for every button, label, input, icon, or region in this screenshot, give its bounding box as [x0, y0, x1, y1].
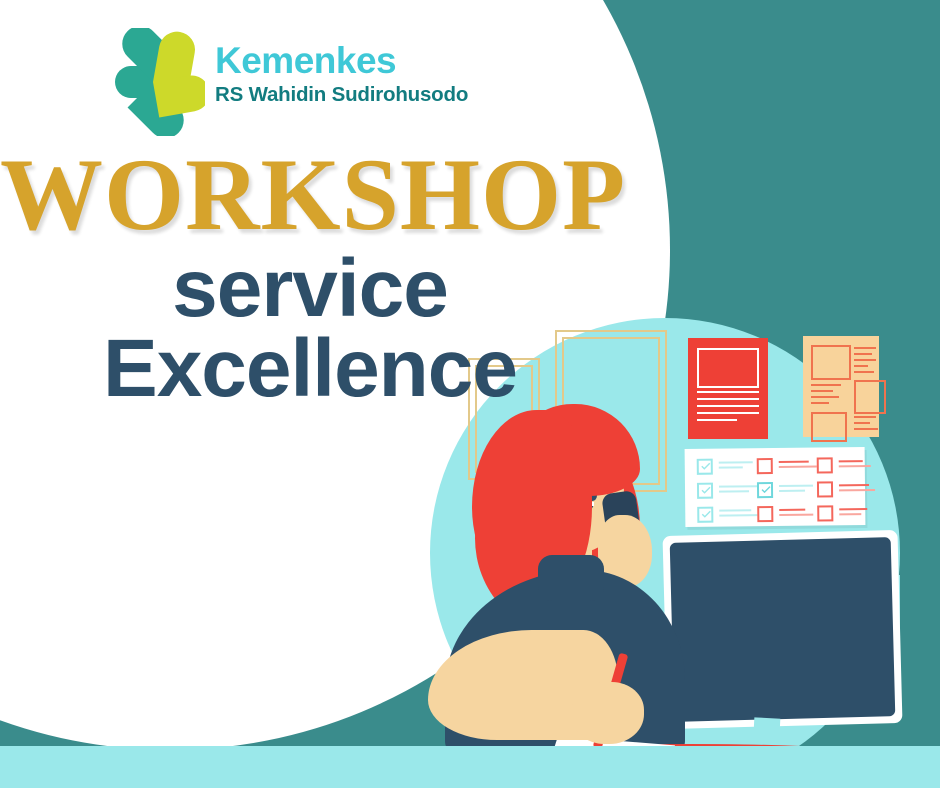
logo-block: Kemenkes RS Wahidin Sudirohusodo	[115, 28, 535, 138]
headline-group: WORKSHOP service Excellence	[0, 148, 620, 409]
title-workshop: WORKSHOP	[0, 148, 620, 243]
logo-text-group: Kemenkes RS Wahidin Sudirohusodo	[215, 42, 468, 106]
monitor-screen	[670, 537, 896, 722]
poster-canvas: Kemenkes RS Wahidin Sudirohusodo WORKSHO…	[0, 0, 940, 788]
red-poster-image-box	[697, 348, 759, 388]
bottom-strip	[0, 746, 940, 788]
hospital-name: RS Wahidin Sudirohusodo	[215, 85, 468, 106]
kemenkes-flower-logo-icon	[115, 28, 205, 136]
checkbox-unchecked	[757, 506, 773, 522]
checkbox-checked	[697, 507, 713, 523]
checkbox-checked	[697, 459, 713, 475]
brand-name: Kemenkes	[215, 42, 468, 79]
red-poster	[688, 338, 768, 439]
checklist-board	[685, 447, 866, 527]
title-excellence: Excellence	[0, 329, 620, 409]
tan-document	[803, 336, 879, 437]
checkbox-unchecked	[817, 457, 833, 473]
title-service: service	[0, 249, 620, 329]
checkbox-checked	[757, 482, 773, 498]
checkbox-unchecked	[757, 458, 773, 474]
checkbox-checked	[697, 483, 713, 499]
woman-hand-writing	[572, 682, 644, 744]
desktop-monitor	[663, 530, 903, 729]
checkbox-unchecked	[817, 481, 833, 497]
checkbox-unchecked	[817, 505, 833, 521]
